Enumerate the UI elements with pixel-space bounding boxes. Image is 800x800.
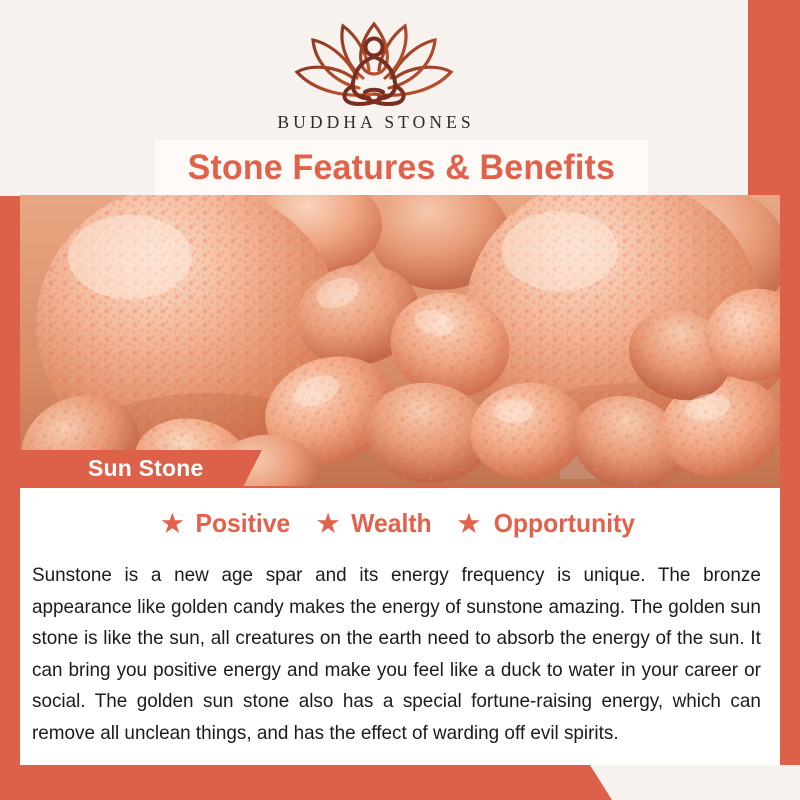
brand-name: BUDDHA STONES [273, 112, 474, 133]
page-title: Stone Features & Benefits [188, 148, 615, 188]
bottom-border-bar [0, 765, 800, 800]
star-icon [458, 513, 480, 535]
star-icon [317, 513, 339, 535]
stone-name-tag: Sun Stone [0, 450, 262, 487]
content-panel: Positive Wealth Opportunity Sunstone is … [20, 488, 780, 765]
benefits-row: Positive Wealth Opportunity [20, 508, 780, 539]
star-icon [161, 513, 183, 535]
title-banner: Stone Features & Benefits [155, 140, 648, 196]
benefit-item-opportunity: Opportunity [458, 508, 639, 539]
benefit-item-positive: Positive [161, 508, 293, 539]
benefit-label: Wealth [351, 508, 432, 539]
benefit-label: Opportunity [494, 508, 635, 539]
lotus-meditation-icon [285, 16, 463, 108]
brand-logo-block: BUDDHA STONES [0, 16, 748, 133]
benefit-item-wealth: Wealth [317, 508, 434, 539]
sunstone-photo [20, 195, 780, 486]
infographic-page: BUDDHA STONES Stone Features & Benefits [0, 0, 800, 800]
stone-name-label: Sun Stone [88, 455, 204, 482]
stone-description: Sunstone is a new age spar and its energ… [32, 560, 761, 749]
benefit-label: Positive [196, 508, 291, 539]
bottom-border-fill [0, 765, 612, 800]
